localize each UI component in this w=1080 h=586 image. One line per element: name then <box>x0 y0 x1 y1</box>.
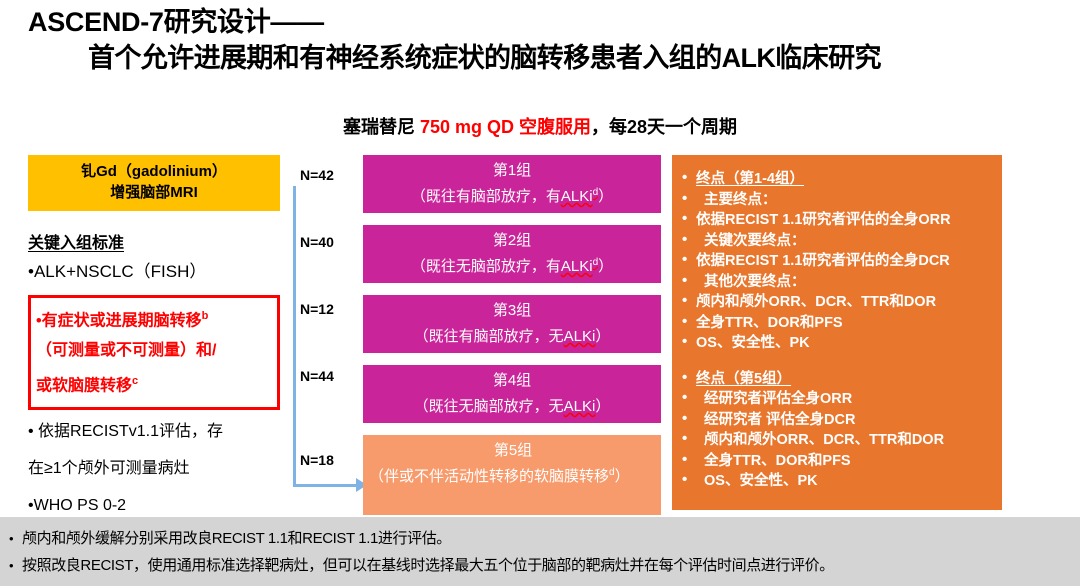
endpoints-group5-heading: 终点（第5组） <box>680 369 994 390</box>
endpoint-item: 依据RECIST 1.1研究者评估的全身ORR <box>680 210 994 231</box>
highlighted-criteria-box: •有症状或进展期脑转移b （可测量或不可测量）和/ 或软脑膜转移c <box>28 295 280 410</box>
dosing-subtitle: 塞瑞替尼 750 mg QD 空腹服用，每28天一个周期 <box>0 113 1080 139</box>
endpoint-item: 依据RECIST 1.1研究者评估的全身DCR <box>680 251 994 272</box>
criteria-item-who-ps: •WHO PS 0-2 <box>28 490 280 521</box>
endpoints-group1-4-list: 终点（第1-4组） 主要终点： 依据RECIST 1.1研究者评估的全身ORR … <box>680 169 994 354</box>
group-5-desc: （伴或不伴活动性转移的软脑膜转移d） <box>369 462 657 488</box>
endpoint-item: OS、安全性、PK <box>680 471 994 492</box>
enrollment-counts: N=42 N=40 N=12 N=44 N=18 <box>296 155 358 510</box>
group-box-4: 第4组 （既往无脑部放疗，无ALKi） <box>363 365 661 423</box>
connector-horizontal-line <box>293 484 361 487</box>
endpoint-item: 关键次要终点： <box>680 231 994 252</box>
title-line-2: 首个允许进展期和有神经系统症状的脑转移患者入组的ALK临床研究 <box>0 40 1080 76</box>
n-label-group3: N=12 <box>300 301 334 317</box>
footnote-1: 颅内和颅外缓解分别采用改良RECIST 1.1和RECIST 1.1进行评估。 <box>6 525 1074 552</box>
endpoint-item: 全身TTR、DOR和PFS <box>680 451 994 472</box>
criteria-heading: 关键入组标准 <box>28 229 280 253</box>
mri-line-2: 增强脑部MRI <box>32 182 276 203</box>
group-2-name: 第2组 <box>367 230 657 252</box>
endpoint-item: 经研究者 评估全身DCR <box>680 410 994 431</box>
red-box-line-1: •有症状或进展期脑转移b <box>36 301 272 336</box>
endpoint-item: 颅内和颅外ORR、DCR、TTR和DOR <box>680 292 994 313</box>
group-3-name: 第3组 <box>367 300 657 322</box>
endpoint-item: 其他次要终点： <box>680 272 994 293</box>
n-label-group2: N=40 <box>300 234 334 250</box>
group-1-name: 第1组 <box>367 160 657 182</box>
group-3-desc: （既往有脑部放疗，无ALKi） <box>367 322 657 348</box>
n-label-group1: N=42 <box>300 167 334 183</box>
endpoints-panel: 终点（第1-4组） 主要终点： 依据RECIST 1.1研究者评估的全身ORR … <box>672 155 1002 510</box>
red-box-line-3: 或软脑膜转移c <box>36 366 272 401</box>
treatment-arms: 第1组 （既往有脑部放疗，有ALKid） 第2组 （既往无脑部放疗，有ALKid… <box>363 155 661 527</box>
eligibility-panel: 钆Gd（gadolinium） 增强脑部MRI 关键入组标准 •ALK+NSCL… <box>28 155 280 521</box>
group-4-desc: （既往无脑部放疗，无ALKi） <box>367 392 657 418</box>
group-box-1: 第1组 （既往有脑部放疗，有ALKid） <box>363 155 661 213</box>
group-2-desc: （既往无脑部放疗，有ALKid） <box>367 252 657 278</box>
group-box-2: 第2组 （既往无脑部放疗，有ALKid） <box>363 225 661 283</box>
footnote-2: 按照改良RECIST，使用通用标准选择靶病灶，但可以在基线时选择最大五个位于脑部… <box>6 552 1074 579</box>
group-4-name: 第4组 <box>367 370 657 392</box>
endpoint-item: OS、安全性、PK <box>680 333 994 354</box>
page-title: ASCEND-7研究设计—— 首个允许进展期和有神经系统症状的脑转移患者入组的A… <box>0 4 1080 76</box>
n-label-group4: N=44 <box>300 368 334 384</box>
endpoint-item: 主要终点： <box>680 190 994 211</box>
endpoints-spacer <box>680 354 994 369</box>
criteria-item-alk: •ALK+NSCLC（FISH） <box>28 257 280 287</box>
n-label-group5: N=18 <box>300 452 334 468</box>
red-box-line-2: （可测量或不可测量）和/ <box>36 336 272 366</box>
group-box-5: 第5组 （伴或不伴活动性转移的软脑膜转移d） <box>363 435 661 515</box>
subtitle-highlight: 750 mg QD 空腹服用 <box>420 117 591 137</box>
endpoints-group1-4-heading: 终点（第1-4组） <box>680 169 994 190</box>
criteria-item-recist-line2: 在≥1个颅外可测量病灶 <box>28 453 280 484</box>
endpoints-group5-list: 终点（第5组） 经研究者评估全身ORR 经研究者 评估全身DCR 颅内和颅外OR… <box>680 369 994 492</box>
subtitle-suffix: ，每28天一个周期 <box>591 117 737 137</box>
mri-requirement-box: 钆Gd（gadolinium） 增强脑部MRI <box>28 155 280 211</box>
connector-vertical-line <box>293 186 296 486</box>
group-box-3: 第3组 （既往有脑部放疗，无ALKi） <box>363 295 661 353</box>
criteria-item-recist-line1: • 依据RECISTv1.1评估，存 <box>28 416 280 447</box>
endpoint-item: 颅内和颅外ORR、DCR、TTR和DOR <box>680 430 994 451</box>
footnotes-bar: 颅内和颅外缓解分别采用改良RECIST 1.1和RECIST 1.1进行评估。 … <box>0 517 1080 586</box>
endpoint-item: 经研究者评估全身ORR <box>680 389 994 410</box>
subtitle-prefix: 塞瑞替尼 <box>343 117 420 137</box>
endpoint-item: 全身TTR、DOR和PFS <box>680 313 994 334</box>
group-5-name: 第5组 <box>369 440 657 462</box>
mri-line-1: 钆Gd（gadolinium） <box>32 161 276 182</box>
title-line-1: ASCEND-7研究设计—— <box>0 4 1080 40</box>
group-1-desc: （既往有脑部放疗，有ALKid） <box>367 182 657 208</box>
